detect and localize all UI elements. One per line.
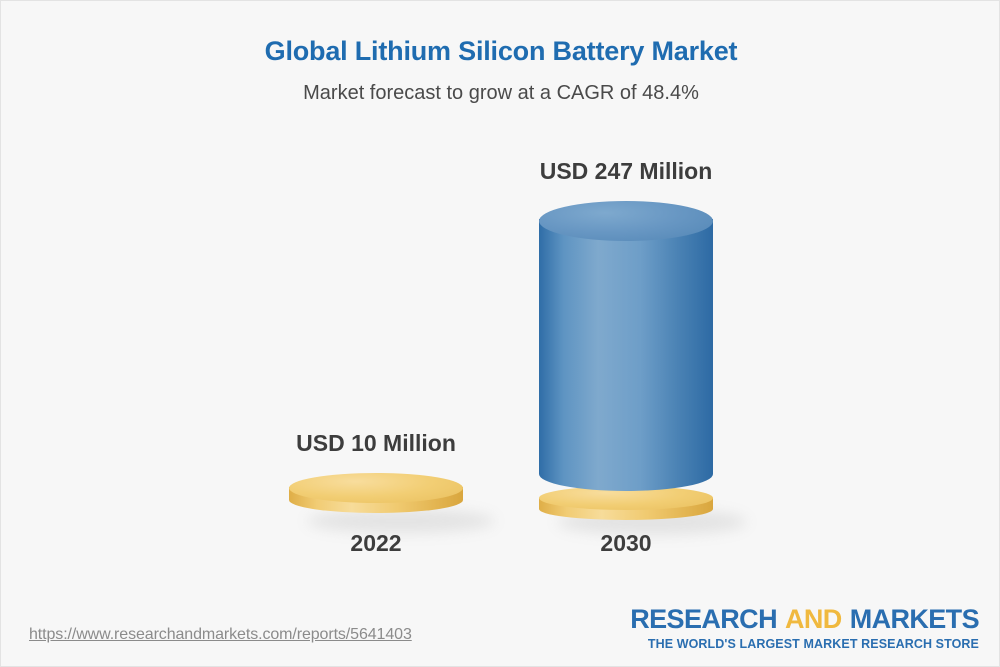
infographic-card: Global Lithium Silicon Battery Market Ma… (0, 0, 1000, 667)
bar-cylinder-2022[interactable] (289, 473, 463, 519)
logo-word-research: RESEARCH (630, 604, 777, 634)
chart-header: Global Lithium Silicon Battery Market Ma… (1, 35, 1000, 105)
report-url-link[interactable]: https://www.researchandmarkets.com/repor… (29, 626, 412, 644)
logo-word-markets: MARKETS (850, 604, 979, 634)
logo-tagline: THE WORLD'S LARGEST MARKET RESEARCH STOR… (630, 638, 979, 651)
bar-cylinder-top-2022 (289, 473, 463, 503)
page-title: Global Lithium Silicon Battery Market (1, 35, 1000, 67)
value-label-2022: USD 10 Million (226, 431, 526, 456)
bar-cylinder-body-2030 (539, 219, 713, 491)
logo-word-and: AND (785, 604, 842, 634)
chart-plot-area: USD 247 Million 2030 USD 10 Million (1, 141, 1000, 571)
bar-cylinder-top-2030 (539, 201, 713, 241)
chart-subtitle: Market forecast to grow at a CAGR of 48.… (1, 81, 1000, 105)
logo-wordmark: RESEARCHANDMARKETS (630, 606, 979, 633)
footer: https://www.researchandmarkets.com/repor… (1, 588, 1000, 666)
value-label-2030: USD 247 Million (476, 159, 776, 184)
category-label-2022: 2022 (226, 531, 526, 556)
bar-cylinder-2030[interactable] (539, 201, 713, 501)
research-and-markets-logo[interactable]: RESEARCHANDMARKETS THE WORLD'S LARGEST M… (630, 606, 979, 651)
